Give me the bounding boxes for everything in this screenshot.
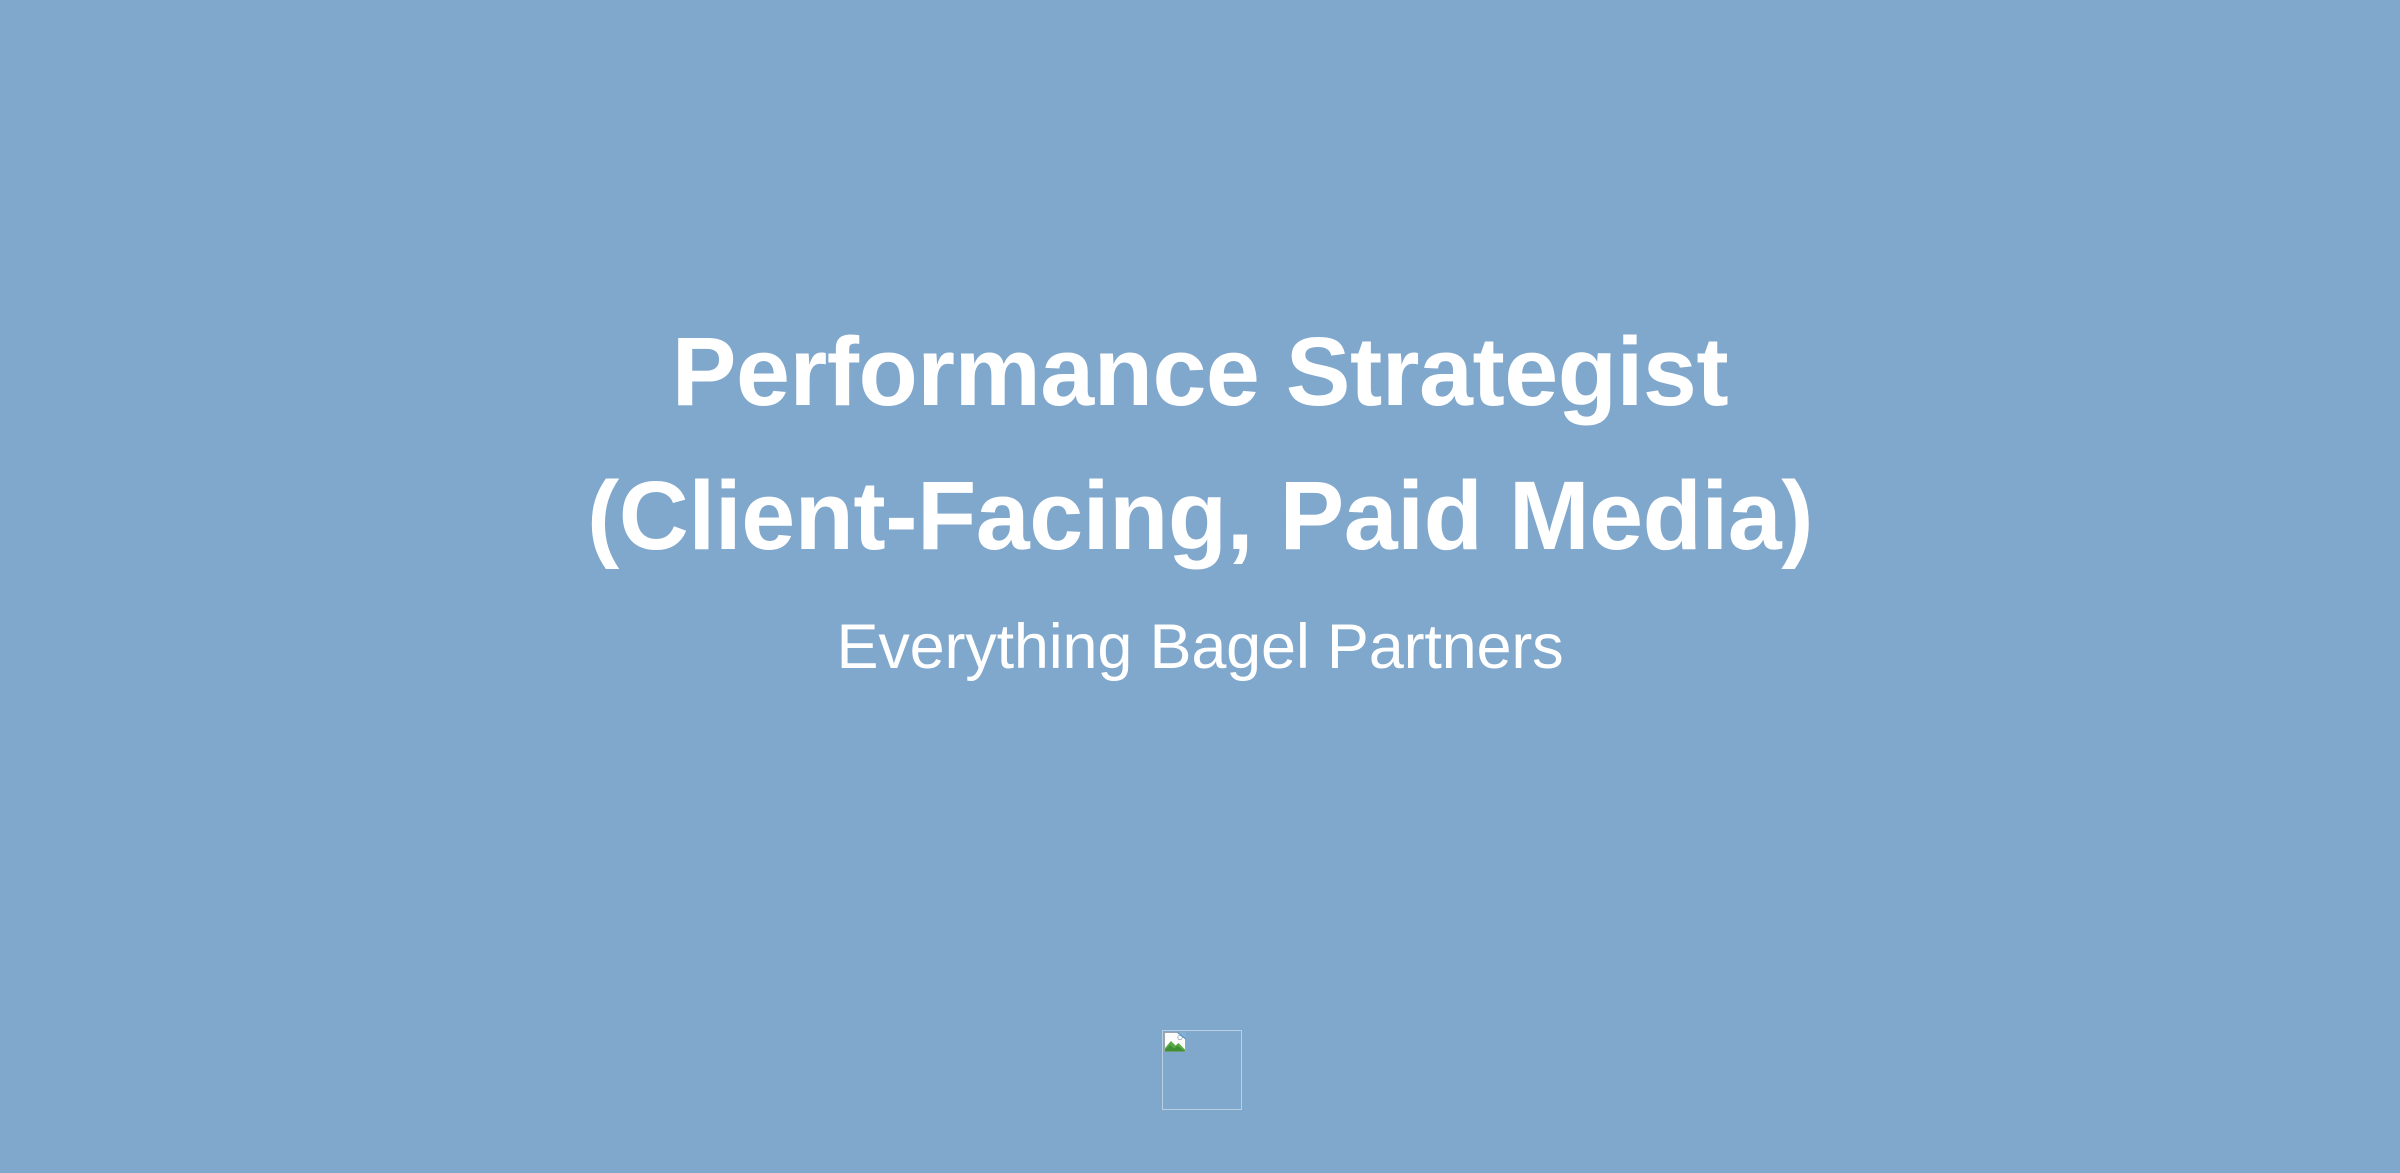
- broken-image-icon: [1164, 1032, 1188, 1054]
- title-block: Performance Strategist (Client-Facing, P…: [0, 300, 2400, 684]
- page-subtitle: Everything Bagel Partners: [0, 610, 2400, 684]
- title-line-2: (Client-Facing, Paid Media): [0, 444, 2400, 588]
- page-title: Performance Strategist (Client-Facing, P…: [0, 300, 2400, 588]
- slide-canvas: Performance Strategist (Client-Facing, P…: [0, 0, 2400, 1173]
- broken-image-placeholder: [1162, 1030, 1242, 1110]
- title-line-1: Performance Strategist: [0, 300, 2400, 444]
